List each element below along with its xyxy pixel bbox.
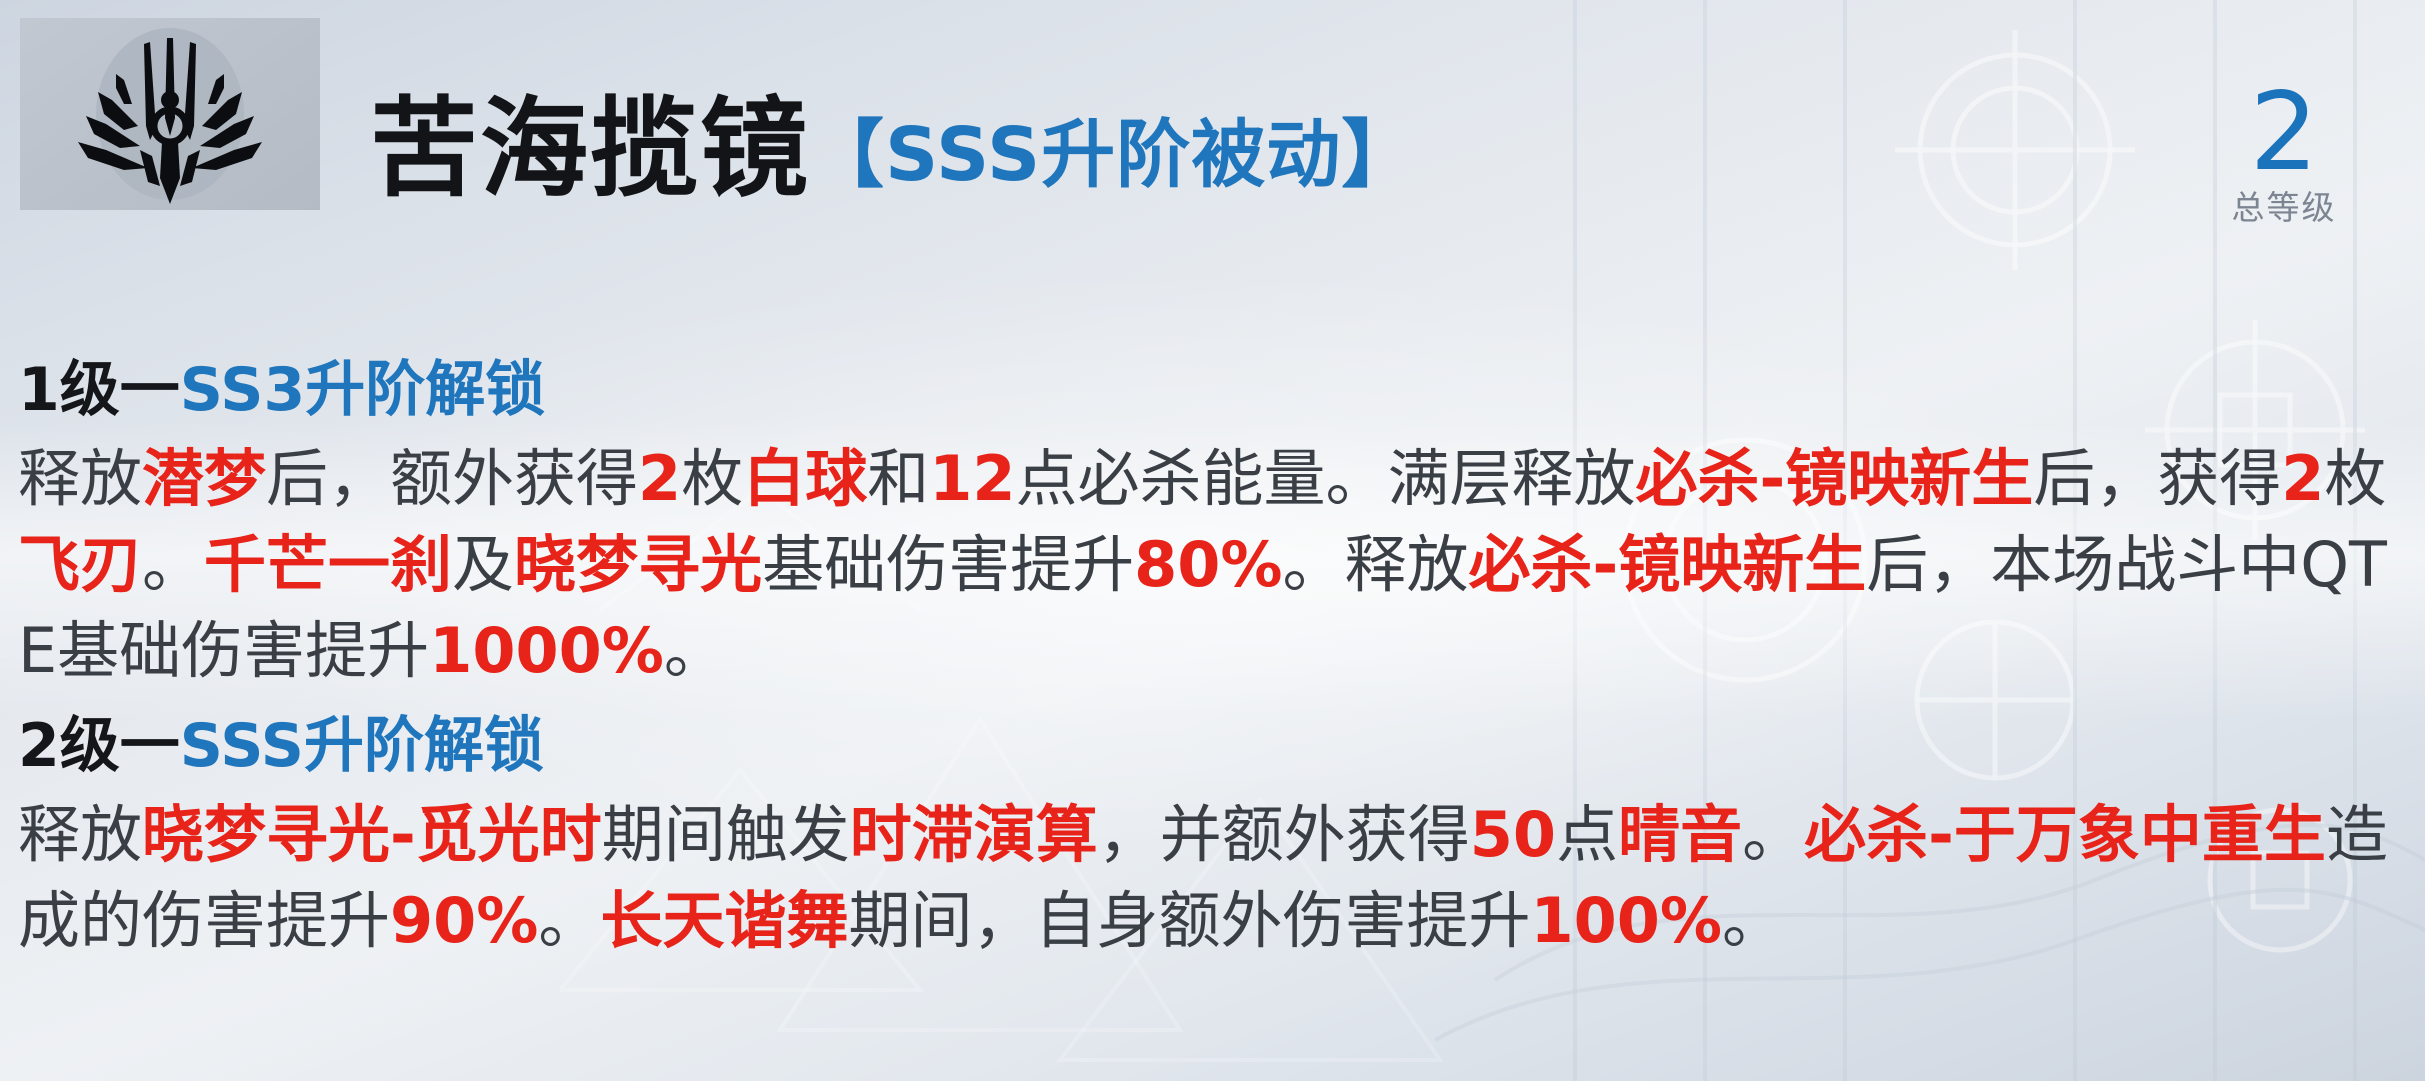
section-2-unlock: SSS升阶解锁 xyxy=(180,711,544,781)
section-2-level: 2级一 xyxy=(18,711,180,781)
section-2-text: 释放晓梦寻光-觅光时期间触发时滞演算，并额外获得50点晴音。必杀-于万象中重生造… xyxy=(18,792,2413,964)
section-1-level: 1级一 xyxy=(18,355,180,425)
skill-level-section-2: 2级一SSS升阶解锁 释放晓梦寻光-觅光时期间触发时滞演算，并额外获得50点晴音… xyxy=(18,704,2413,964)
skill-title-sub: 【SSS升阶被动】 xyxy=(810,112,1416,198)
skill-info-panel: 苦海揽镜【SSS升阶被动】 2 总等级 1级一SS3升阶解锁 释放潜梦后，额外获… xyxy=(0,0,2425,1081)
skill-description-body: 1级一SS3升阶解锁 释放潜梦后，额外获得2枚白球和12点必杀能量。满层释放必杀… xyxy=(18,348,2413,964)
total-level-label: 总等级 xyxy=(2179,188,2389,228)
skill-title-main: 苦海揽镜 xyxy=(370,87,810,212)
section-1-unlock: SS3升阶解锁 xyxy=(180,355,545,425)
skill-icon-frame xyxy=(20,18,320,210)
skill-title: 苦海揽镜【SSS升阶被动】 xyxy=(370,62,1416,218)
section-1-heading: 1级一SS3升阶解锁 xyxy=(18,348,2413,432)
skill-level-section-1: 1级一SS3升阶解锁 释放潜梦后，额外获得2枚白球和12点必杀能量。满层释放必杀… xyxy=(18,348,2413,694)
total-level-value: 2 xyxy=(2179,78,2389,188)
panel-header: 苦海揽镜【SSS升阶被动】 2 总等级 xyxy=(0,0,2425,345)
total-level-badge: 2 总等级 xyxy=(2179,78,2389,228)
section-2-heading: 2级一SSS升阶解锁 xyxy=(18,704,2413,788)
section-1-text: 释放潜梦后，额外获得2枚白球和12点必杀能量。满层释放必杀-镜映新生后，获得2枚… xyxy=(18,436,2413,694)
phoenix-emblem-icon xyxy=(20,18,320,210)
